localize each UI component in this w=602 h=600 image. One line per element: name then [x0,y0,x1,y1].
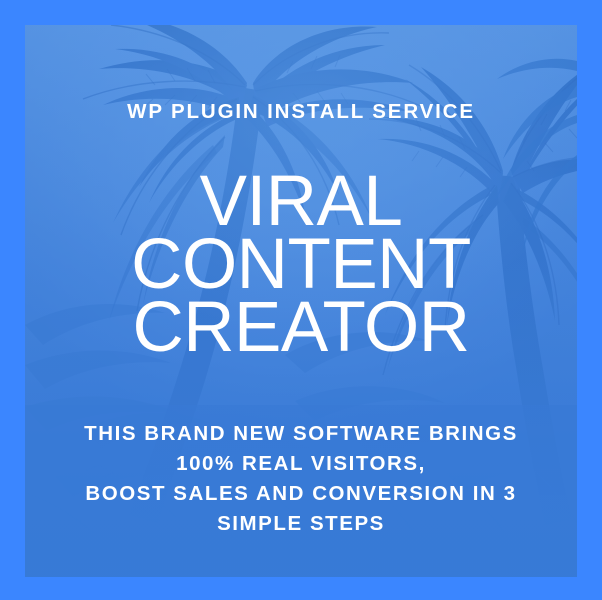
subcopy-line-3: BOOST SALES AND CONVERSION IN 3 [0,479,602,509]
headline-line-1: VIRAL [0,170,602,233]
subcopy-line-2: 100% REAL VISITORS, [0,449,602,479]
headline-line-3: CREATOR [0,296,602,359]
main-headline: VIRAL CONTENT CREATOR [0,170,602,359]
poster-text-content: WP PLUGIN INSTALL SERVICE VIRAL CONTENT … [0,0,602,600]
supporting-copy: THIS BRAND NEW SOFTWARE BRINGS 100% REAL… [0,419,602,539]
headline-line-2: CONTENT [0,233,602,296]
eyebrow-heading: WP PLUGIN INSTALL SERVICE [0,101,602,124]
subcopy-line-1: THIS BRAND NEW SOFTWARE BRINGS [0,419,602,449]
promo-poster: WP PLUGIN INSTALL SERVICE VIRAL CONTENT … [0,0,602,600]
subcopy-line-4: SIMPLE STEPS [0,509,602,539]
